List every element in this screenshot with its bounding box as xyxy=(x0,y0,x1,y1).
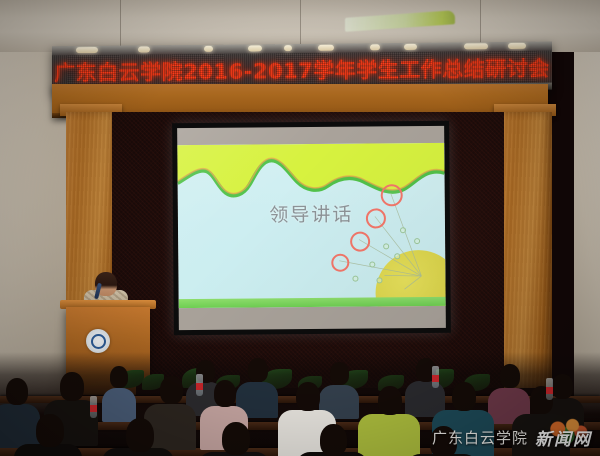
watermark: 广东白云学院 新闻网 xyxy=(432,425,592,450)
slide-dot xyxy=(394,253,400,259)
wood-pillar-right xyxy=(500,112,552,388)
university-seal-icon xyxy=(86,329,110,353)
presentation-slide: 领导讲话 xyxy=(177,143,445,308)
screen-surface: 领导讲话 xyxy=(177,126,446,330)
water-bottle xyxy=(196,374,203,396)
slide-dot xyxy=(369,261,375,267)
water-bottle xyxy=(90,396,97,418)
water-bottle xyxy=(432,366,439,388)
projection-screen: 领导讲话 xyxy=(172,121,451,335)
slide-ring-1 xyxy=(381,184,403,206)
slide-bottom-bar xyxy=(179,297,446,308)
watermark-outlet: 新闻网 xyxy=(535,425,592,450)
slide-dot xyxy=(352,276,358,282)
screenshot-canvas: 广东白云学院2016-2017学年学生工作总结研讨会 领导讲话 xyxy=(0,0,600,456)
slide-dot xyxy=(376,277,382,283)
slide-ring-4 xyxy=(331,254,349,272)
slide-dot xyxy=(383,243,389,249)
watermark-institution: 广东白云学院 xyxy=(432,427,528,448)
slide-rays xyxy=(177,143,445,308)
slide-dot xyxy=(414,238,420,244)
slide-ring-2 xyxy=(366,208,386,228)
slide-ring-3 xyxy=(350,231,370,251)
slide-dot xyxy=(400,227,406,233)
water-bottle xyxy=(546,378,553,400)
